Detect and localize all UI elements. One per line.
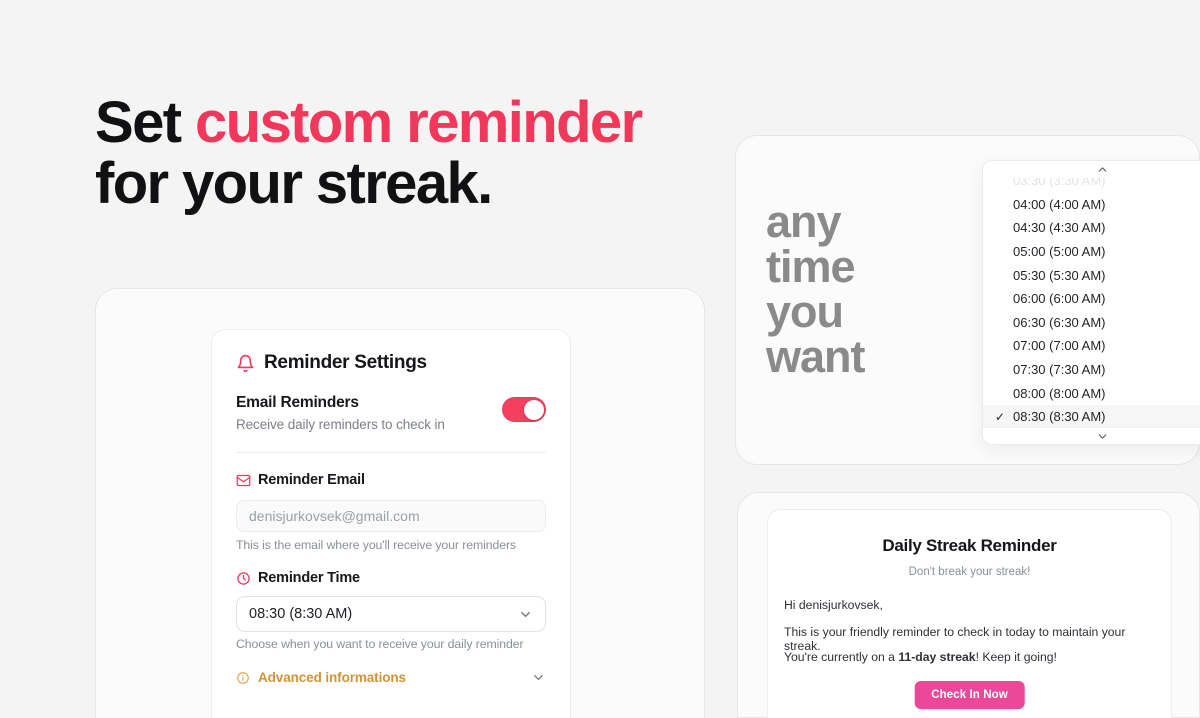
dropdown-option[interactable]: ✓08:30 (8:30 AM)	[983, 405, 1200, 427]
advanced-informations-row[interactable]: Advanced informations	[236, 670, 546, 685]
page-title: Set custom reminder for your streak.	[95, 92, 642, 215]
dropdown-option-label: 07:00 (7:00 AM)	[1013, 338, 1106, 353]
dropdown-option-label: 07:30 (7:30 AM)	[1013, 362, 1106, 377]
bell-icon	[236, 354, 255, 373]
toggle-knob	[524, 400, 544, 420]
email-reminders-toggle[interactable]	[502, 397, 546, 422]
anytime-word: you	[766, 289, 865, 334]
email-body: This is your friendly reminder to check …	[784, 625, 1155, 653]
dropdown-option-label: 08:00 (8:00 AM)	[1013, 386, 1106, 401]
settings-card-frame: Reminder Settings Email Reminders Receiv…	[95, 288, 705, 718]
dropdown-option-label: 04:30 (4:30 AM)	[1013, 220, 1106, 235]
dropdown-scroll-down[interactable]	[983, 427, 1200, 444]
dropdown-option-label: 04:00 (4:00 AM)	[1013, 197, 1106, 212]
mail-icon	[236, 473, 251, 488]
email-greeting: Hi denisjurkovsek,	[784, 598, 1155, 612]
email-reminders-label: Email Reminders	[236, 394, 445, 412]
reminder-time-select[interactable]: 08:30 (8:30 AM)	[236, 596, 546, 632]
dropdown-option[interactable]: 05:30 (5:30 AM)	[983, 263, 1200, 287]
advanced-left-group: Advanced informations	[236, 670, 406, 685]
reminder-time-label: Reminder Time	[258, 570, 360, 586]
email-title: Daily Streak Reminder	[768, 536, 1171, 556]
reminder-email-label-row: Reminder Email	[236, 472, 546, 488]
dropdown-option-label: 06:00 (6:00 AM)	[1013, 291, 1106, 306]
reminder-email-label: Reminder Email	[258, 472, 365, 488]
dropdown-option[interactable]: 04:30 (4:30 AM)	[983, 216, 1200, 240]
anytime-text: anytimeyouwant	[766, 199, 865, 379]
time-options-dropdown[interactable]: 03:30 (3:30 AM)04:00 (4:00 AM)04:30 (4:3…	[982, 160, 1200, 445]
email-subtitle: Don't break your streak!	[768, 566, 1171, 578]
dropdown-option[interactable]: 07:30 (7:30 AM)	[983, 358, 1200, 382]
dropdown-option-label: 06:30 (6:30 AM)	[1013, 315, 1106, 330]
clock-icon	[236, 571, 251, 586]
headline-accent: custom reminder	[195, 90, 642, 155]
dropdown-option[interactable]: 07:00 (7:00 AM)	[983, 334, 1200, 358]
dropdown-option-label: 08:30 (8:30 AM)	[1013, 409, 1106, 424]
dropdown-option[interactable]: 08:00 (8:00 AM)	[983, 381, 1200, 405]
anytime-word: want	[766, 334, 865, 379]
dropdown-option-label: 05:00 (5:00 AM)	[1013, 244, 1106, 259]
reminder-settings-card: Reminder Settings Email Reminders Receiv…	[211, 329, 571, 718]
email-reminders-row: Email Reminders Receive daily reminders …	[236, 394, 546, 432]
dropdown-option[interactable]: 06:00 (6:00 AM)	[983, 287, 1200, 311]
card-header: Reminder Settings	[236, 352, 546, 374]
page-root: Set custom reminder for your streak. Rem…	[0, 0, 1200, 718]
email-reminders-text: Email Reminders Receive daily reminders …	[236, 394, 445, 432]
dropdown-scroll-up[interactable]	[983, 161, 1200, 178]
headline-plain: Set	[95, 90, 195, 155]
chevron-down-icon	[531, 670, 546, 685]
reminder-time-value: 08:30 (8:30 AM)	[249, 606, 352, 622]
email-preview-card: Daily Streak Reminder Don't break your s…	[767, 509, 1172, 718]
headline-line-2: for your streak.	[95, 151, 492, 216]
reminder-email-hint: This is the email where you'll receive y…	[236, 538, 546, 552]
email-reminders-description: Receive daily reminders to check in	[236, 417, 445, 432]
info-circle-icon	[236, 671, 250, 685]
email-preview-frame: Daily Streak Reminder Don't break your s…	[737, 492, 1200, 718]
dropdown-option[interactable]: 04:00 (4:00 AM)	[983, 193, 1200, 217]
anytime-word: time	[766, 244, 865, 289]
card-title-text: Reminder Settings	[264, 352, 427, 374]
reminder-time-label-row: Reminder Time	[236, 570, 546, 586]
dropdown-option[interactable]: 05:00 (5:00 AM)	[983, 240, 1200, 264]
check-icon: ✓	[995, 410, 1013, 424]
dropdown-option-list[interactable]: 03:30 (3:30 AM)04:00 (4:00 AM)04:30 (4:3…	[983, 169, 1200, 427]
section-divider	[236, 452, 546, 453]
streak-suffix: ! Keep it going!	[976, 650, 1057, 664]
chevron-down-icon	[518, 607, 533, 622]
anytime-word: any	[766, 199, 865, 244]
check-in-now-button[interactable]: Check In Now	[914, 681, 1025, 709]
reminder-time-hint: Choose when you want to receive your dai…	[236, 637, 546, 651]
email-streak-line: You're currently on a 11-day streak! Kee…	[784, 650, 1155, 664]
reminder-email-input[interactable]: denisjurkovsek@gmail.com	[236, 500, 546, 532]
headline-line-1: Set custom reminder	[95, 90, 642, 155]
dropdown-option[interactable]: 06:30 (6:30 AM)	[983, 311, 1200, 335]
advanced-informations-label: Advanced informations	[258, 670, 406, 685]
streak-prefix: You're currently on a	[784, 650, 898, 664]
streak-count: 11-day streak	[898, 650, 975, 664]
dropdown-option-label: 05:30 (5:30 AM)	[1013, 268, 1106, 283]
